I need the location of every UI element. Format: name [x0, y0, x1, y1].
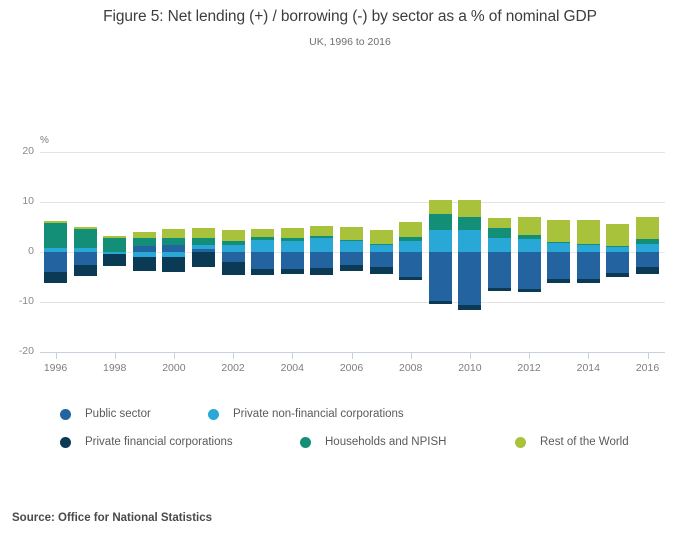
bar-segment: [547, 242, 570, 243]
bar-segment: [281, 252, 304, 269]
x-axis-tick-label: 2002: [208, 362, 258, 374]
bar-segment: [577, 252, 600, 279]
x-axis-tick: [411, 352, 412, 359]
bar-segment: [577, 244, 600, 245]
bar-segment: [636, 239, 659, 244]
bar-segment: [370, 230, 393, 244]
x-axis-tick-label: 2010: [445, 362, 495, 374]
bar-segment: [74, 227, 97, 229]
bar-segment: [606, 224, 629, 246]
legend-swatch-households-and-npish: [300, 437, 311, 448]
bar-group[interactable]: [192, 0, 215, 400]
bar-segment: [192, 245, 215, 249]
legend-row-1: Public sector Private non-financial corp…: [60, 404, 680, 432]
bar-segment: [577, 220, 600, 244]
source-note: Source: Office for National Statistics: [12, 512, 212, 524]
bar-group[interactable]: [133, 0, 156, 400]
x-axis-tick-label: 2012: [504, 362, 554, 374]
bar-segment: [340, 265, 363, 271]
bars-layer: [0, 0, 700, 400]
bar-segment: [133, 232, 156, 238]
bar-segment: [370, 245, 393, 252]
bar-segment: [222, 241, 245, 246]
bar-segment: [458, 252, 481, 305]
legend-item-rest-of-the-world[interactable]: Rest of the World: [515, 432, 629, 452]
x-axis-tick: [174, 352, 175, 359]
bar-segment: [251, 229, 274, 238]
bar-segment: [251, 252, 274, 269]
bar-segment: [44, 223, 67, 248]
legend-swatch-public-sector: [60, 409, 71, 420]
bar-segment: [162, 229, 185, 239]
bar-segment: [192, 228, 215, 238]
bar-segment: [310, 226, 333, 236]
bar-segment: [251, 240, 274, 252]
bar-segment: [222, 262, 245, 275]
bar-segment: [458, 305, 481, 310]
bar-segment: [488, 252, 511, 288]
bar-segment: [636, 252, 659, 267]
x-axis-tick: [352, 352, 353, 359]
bar-segment: [429, 230, 452, 252]
bar-segment: [162, 238, 185, 245]
bar-segment: [310, 268, 333, 275]
bar-segment: [251, 237, 274, 240]
bar-segment: [44, 221, 67, 223]
bar-group[interactable]: [488, 0, 511, 400]
bar-segment: [222, 230, 245, 241]
bar-segment: [547, 252, 570, 279]
legend-item-households-and-npish[interactable]: Households and NPISH: [300, 432, 446, 452]
bar-segment: [606, 252, 629, 273]
bar-segment: [429, 214, 452, 230]
bar-segment: [547, 279, 570, 283]
legend-label-public-sector: Public sector: [85, 408, 151, 420]
bar-segment: [547, 243, 570, 253]
legend-swatch-rest-of-the-world: [515, 437, 526, 448]
bar-segment: [488, 238, 511, 253]
bar-segment: [488, 218, 511, 229]
bar-segment: [458, 217, 481, 231]
bar-segment: [340, 240, 363, 242]
bar-group[interactable]: [44, 0, 67, 400]
bar-group[interactable]: [636, 0, 659, 400]
bar-segment: [429, 252, 452, 301]
bar-segment: [192, 238, 215, 245]
bar-group[interactable]: [518, 0, 541, 400]
bar-segment: [458, 230, 481, 252]
bar-group[interactable]: [162, 0, 185, 400]
bar-segment: [222, 245, 245, 252]
bar-segment: [133, 257, 156, 271]
bar-segment: [251, 269, 274, 275]
bar-segment: [310, 238, 333, 253]
bar-segment: [429, 301, 452, 305]
bar-segment: [518, 239, 541, 252]
bar-segment: [133, 238, 156, 246]
plot-area: 20100-10-20 % 19961998200020022004200620…: [0, 0, 700, 400]
x-axis-tick: [56, 352, 57, 359]
bar-segment: [340, 252, 363, 265]
x-axis-tick-label: 2016: [623, 362, 673, 374]
bar-group[interactable]: [281, 0, 304, 400]
legend-item-private-financial-corporations[interactable]: Private financial corporations: [60, 432, 233, 452]
bar-segment: [281, 241, 304, 253]
bar-segment: [74, 229, 97, 249]
bar-segment: [281, 228, 304, 238]
legend-label-private-non-financial-corporations: Private non-financial corporations: [233, 408, 404, 420]
bar-segment: [44, 272, 67, 283]
bar-segment: [518, 235, 541, 239]
bar-segment: [222, 252, 245, 262]
bar-segment: [488, 288, 511, 291]
legend: Public sector Private non-financial corp…: [60, 404, 680, 460]
bar-segment: [399, 241, 422, 252]
x-axis-tick: [470, 352, 471, 359]
bar-segment: [399, 237, 422, 241]
bar-segment: [399, 222, 422, 237]
legend-row-2: Private financial corporations Household…: [60, 432, 680, 460]
bar-segment: [488, 228, 511, 238]
bar-segment: [370, 252, 393, 267]
bar-segment: [74, 248, 97, 252]
legend-label-rest-of-the-world: Rest of the World: [540, 436, 629, 448]
bar-segment: [518, 289, 541, 293]
bar-segment: [340, 241, 363, 252]
x-axis-tick: [292, 352, 293, 359]
bar-segment: [44, 248, 67, 253]
bar-segment: [103, 236, 126, 239]
bar-group[interactable]: [370, 0, 393, 400]
bar-segment: [577, 279, 600, 283]
x-axis-tick: [115, 352, 116, 359]
bar-segment: [370, 267, 393, 275]
legend-item-private-non-financial-corporations[interactable]: Private non-financial corporations: [208, 404, 404, 424]
bar-segment: [636, 244, 659, 252]
x-axis-tick-label: 2006: [327, 362, 377, 374]
bar-segment: [577, 245, 600, 253]
bar-segment: [606, 273, 629, 277]
bar-group[interactable]: [103, 0, 126, 400]
bar-group[interactable]: [429, 0, 452, 400]
bar-segment: [162, 245, 185, 253]
bar-segment: [399, 277, 422, 280]
bar-segment: [192, 252, 215, 267]
x-axis-tick: [233, 352, 234, 359]
bar-segment: [310, 252, 333, 268]
bar-segment: [281, 238, 304, 241]
bar-group[interactable]: [577, 0, 600, 400]
x-axis-tick-label: 2004: [267, 362, 317, 374]
bar-group[interactable]: [222, 0, 245, 400]
bar-segment: [458, 200, 481, 217]
x-axis-tick-label: 1998: [90, 362, 140, 374]
x-axis-tick-label: 2000: [149, 362, 199, 374]
bar-segment: [310, 236, 333, 238]
bar-segment: [636, 217, 659, 239]
bar-segment: [74, 265, 97, 276]
bar-segment: [74, 252, 97, 265]
x-axis-line: [40, 352, 665, 353]
legend-swatch-private-non-financial-corporations: [208, 409, 219, 420]
bar-segment: [547, 220, 570, 242]
bar-group[interactable]: [251, 0, 274, 400]
bar-segment: [636, 267, 659, 274]
bar-segment: [518, 217, 541, 236]
bar-group[interactable]: [547, 0, 570, 400]
bar-segment: [399, 252, 422, 277]
legend-swatch-private-financial-corporations: [60, 437, 71, 448]
bar-segment: [606, 246, 629, 252]
bar-segment: [606, 246, 629, 247]
bar-group[interactable]: [310, 0, 333, 400]
x-axis-tick-label: 1996: [31, 362, 81, 374]
bar-group[interactable]: [340, 0, 363, 400]
bar-segment: [281, 269, 304, 275]
bar-segment: [370, 244, 393, 245]
legend-label-households-and-npish: Households and NPISH: [325, 436, 446, 448]
bar-segment: [103, 254, 126, 266]
bar-group[interactable]: [458, 0, 481, 400]
bar-segment: [429, 200, 452, 215]
bar-group[interactable]: [606, 0, 629, 400]
bar-segment: [103, 238, 126, 252]
bar-segment: [340, 227, 363, 240]
x-axis-tick: [529, 352, 530, 359]
x-axis-tick-label: 2014: [563, 362, 613, 374]
x-axis-tick-label: 2008: [386, 362, 436, 374]
legend-label-private-financial-corporations: Private financial corporations: [85, 436, 233, 448]
bar-segment: [162, 257, 185, 273]
x-axis-tick: [588, 352, 589, 359]
x-axis-tick: [648, 352, 649, 359]
bar-group[interactable]: [74, 0, 97, 400]
bar-segment: [518, 252, 541, 289]
bar-segment: [44, 252, 67, 272]
bar-group[interactable]: [399, 0, 422, 400]
legend-item-public-sector[interactable]: Public sector: [60, 404, 151, 424]
